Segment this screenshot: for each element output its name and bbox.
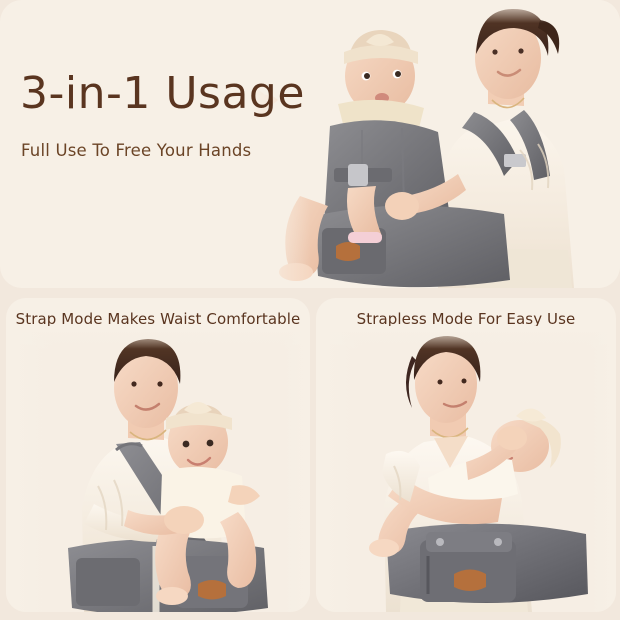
page-title: 3-in-1 Usage [20, 66, 305, 122]
hero-photo-illustration [252, 0, 620, 288]
product-infographic: 3-in-1 Usage Full Use To Free Your Hands… [0, 0, 620, 620]
mode-panel-strapless: Strapless Mode For Easy Use [316, 298, 616, 612]
mode-photo-strapless [316, 326, 616, 612]
hero-photo [252, 0, 620, 288]
hero-panel: 3-in-1 Usage Full Use To Free Your Hands [0, 0, 620, 288]
strapless-mode-illustration [316, 326, 616, 612]
page-subtitle: Full Use To Free Your Hands [21, 139, 251, 163]
mode-panel-strap: Strap Mode Makes Waist Comfortable [6, 298, 310, 612]
strap-mode-illustration [6, 326, 310, 612]
mode-photo-strap [6, 326, 310, 612]
